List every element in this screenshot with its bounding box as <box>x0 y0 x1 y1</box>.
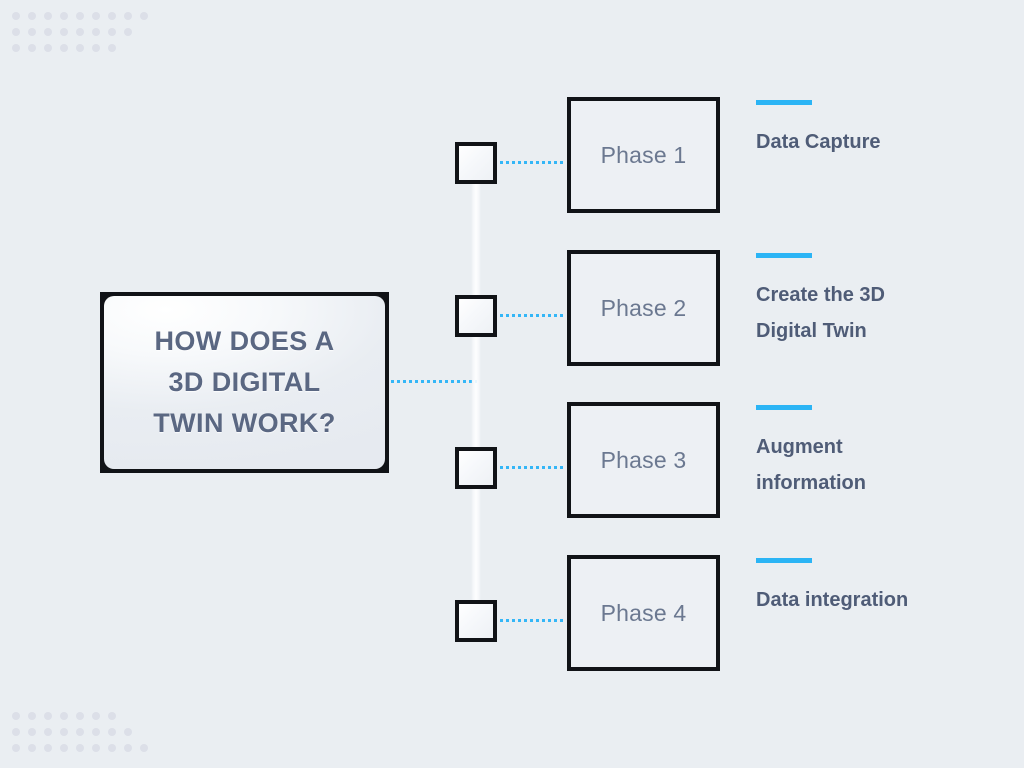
decorative-dot <box>92 44 100 52</box>
decorative-dot <box>60 728 68 736</box>
decorative-dot <box>108 28 116 36</box>
step-marker-4[interactable] <box>455 600 497 642</box>
decorative-dot <box>124 728 132 736</box>
infographic-canvas: HOW DOES A 3D DIGITAL TWIN WORK? Phase 1… <box>0 0 1024 768</box>
decorative-dot-grid-bottom-left <box>12 712 148 752</box>
decorative-dot <box>76 12 84 20</box>
decorative-dot <box>60 744 68 752</box>
decorative-dot <box>92 744 100 752</box>
decorative-dot <box>44 28 52 36</box>
dot-row <box>12 712 148 720</box>
decorative-dot <box>76 28 84 36</box>
decorative-dot <box>12 12 20 20</box>
connector-line-2 <box>500 314 564 317</box>
phase-row-3: Phase 3Augment information <box>0 395 1024 555</box>
accent-bar <box>756 100 812 105</box>
phase-caption-text: Data Capture <box>756 124 946 160</box>
phase-caption-4: Data integration <box>756 558 1006 618</box>
decorative-dot <box>44 12 52 20</box>
dot-row <box>12 12 148 20</box>
decorative-dot <box>76 712 84 720</box>
decorative-dot <box>28 712 36 720</box>
decorative-dot <box>140 744 148 752</box>
decorative-dot <box>28 728 36 736</box>
step-marker-1[interactable] <box>455 142 497 184</box>
phase-caption-text: Data integration <box>756 582 946 618</box>
decorative-dot <box>44 712 52 720</box>
phase-row-4: Phase 4Data integration <box>0 548 1024 708</box>
decorative-dot <box>12 44 20 52</box>
dot-row <box>12 44 148 52</box>
phase-caption-text: Augment information <box>756 429 946 501</box>
decorative-dot <box>108 44 116 52</box>
phase-caption-2: Create the 3D Digital Twin <box>756 253 1006 349</box>
phase-box-label: Phase 3 <box>601 447 687 474</box>
decorative-dot <box>140 12 148 20</box>
decorative-dot <box>124 744 132 752</box>
decorative-dot <box>76 744 84 752</box>
decorative-dot <box>12 744 20 752</box>
step-marker-3[interactable] <box>455 447 497 489</box>
decorative-dot <box>28 28 36 36</box>
decorative-dot <box>76 728 84 736</box>
decorative-dot <box>60 712 68 720</box>
decorative-dot <box>108 712 116 720</box>
phase-caption-1: Data Capture <box>756 100 1006 160</box>
accent-bar <box>756 558 812 563</box>
decorative-dot <box>28 744 36 752</box>
decorative-dot <box>44 728 52 736</box>
decorative-dot <box>44 44 52 52</box>
decorative-dot <box>92 12 100 20</box>
step-marker-2[interactable] <box>455 295 497 337</box>
decorative-dot <box>60 44 68 52</box>
decorative-dot <box>28 12 36 20</box>
decorative-dot <box>28 44 36 52</box>
decorative-dot <box>108 728 116 736</box>
connector-line-4 <box>500 619 564 622</box>
decorative-dot <box>76 44 84 52</box>
phase-box-2[interactable]: Phase 2 <box>567 250 720 366</box>
phase-box-3[interactable]: Phase 3 <box>567 402 720 518</box>
connector-line-3 <box>500 466 564 469</box>
phase-box-label: Phase 1 <box>601 142 687 169</box>
accent-bar <box>756 253 812 258</box>
accent-bar <box>756 405 812 410</box>
phase-row-2: Phase 2Create the 3D Digital Twin <box>0 243 1024 403</box>
phase-box-4[interactable]: Phase 4 <box>567 555 720 671</box>
decorative-dot <box>124 28 132 36</box>
decorative-dot <box>108 744 116 752</box>
phase-caption-text: Create the 3D Digital Twin <box>756 277 946 349</box>
decorative-dot <box>124 12 132 20</box>
decorative-dot <box>92 28 100 36</box>
phase-box-label: Phase 4 <box>601 600 687 627</box>
phase-row-1: Phase 1Data Capture <box>0 90 1024 250</box>
decorative-dot <box>12 28 20 36</box>
phase-caption-3: Augment information <box>756 405 1006 501</box>
decorative-dot <box>60 12 68 20</box>
decorative-dot <box>108 12 116 20</box>
decorative-dot <box>12 712 20 720</box>
decorative-dot <box>92 712 100 720</box>
decorative-dot <box>12 728 20 736</box>
decorative-dot <box>92 728 100 736</box>
phase-box-label: Phase 2 <box>601 295 687 322</box>
dot-row <box>12 744 148 752</box>
phase-box-1[interactable]: Phase 1 <box>567 97 720 213</box>
dot-row <box>12 728 148 736</box>
connector-line-1 <box>500 161 564 164</box>
decorative-dot <box>60 28 68 36</box>
dot-row <box>12 28 148 36</box>
decorative-dot <box>44 744 52 752</box>
decorative-dot-grid-top-left <box>12 12 148 52</box>
